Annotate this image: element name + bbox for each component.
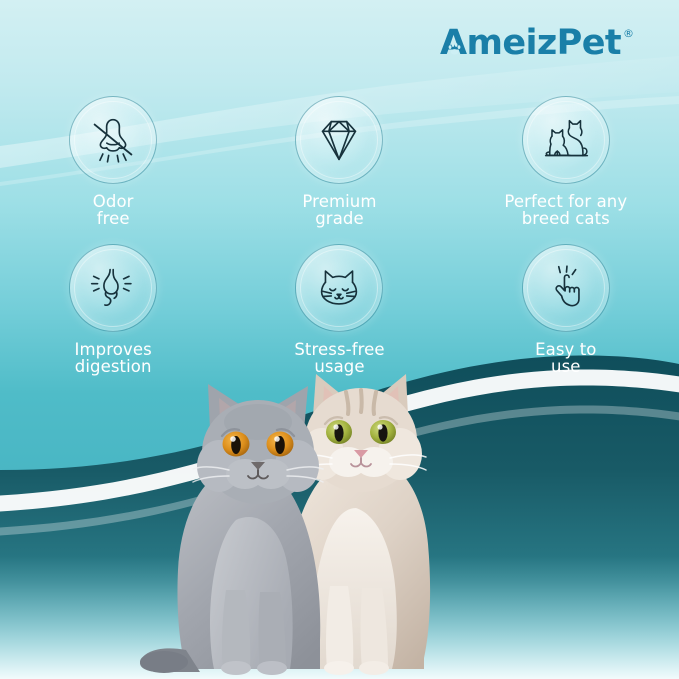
feature-label: Perfect for any breed cats xyxy=(504,193,627,227)
gray-cat-head xyxy=(193,384,323,504)
feature-icon-badge xyxy=(295,244,383,332)
feature-label: Easy to use xyxy=(535,341,596,375)
feature-label: Odor free xyxy=(93,193,134,227)
feature-icon-badge xyxy=(522,96,610,184)
feature-icon-badge xyxy=(69,244,157,332)
feature-icon-badge xyxy=(69,96,157,184)
brand-logo: AmeizPet ® xyxy=(440,26,634,61)
cat-face-smiling-icon xyxy=(310,259,368,317)
cat-paw-icon xyxy=(448,43,461,55)
brand-wordmark: AmeizPet xyxy=(440,26,621,61)
feature-premium-grade: Premium grade xyxy=(244,96,434,244)
feature-icon-badge xyxy=(522,244,610,332)
feature-perfect-for-any-breed-cats: Perfect for any breed cats xyxy=(471,96,661,244)
diamond-icon xyxy=(310,111,368,169)
feature-odor-free: Odor free xyxy=(18,96,208,244)
feature-label: Premium grade xyxy=(302,193,376,227)
feature-icon-badge xyxy=(295,96,383,184)
gray-cat xyxy=(140,384,323,675)
tapping-hand-icon xyxy=(537,259,595,317)
product-feature-banner: AmeizPet ® xyxy=(0,0,679,679)
cats-photo xyxy=(108,358,498,679)
feature-grid: Odor free Premium grade xyxy=(0,96,679,389)
nose-crossed-out-icon xyxy=(84,111,142,169)
stomach-icon xyxy=(84,259,142,317)
registered-trademark-symbol: ® xyxy=(623,28,634,39)
feature-easy-to-use: Easy to use xyxy=(471,244,661,389)
two-cats-icon xyxy=(537,111,595,169)
